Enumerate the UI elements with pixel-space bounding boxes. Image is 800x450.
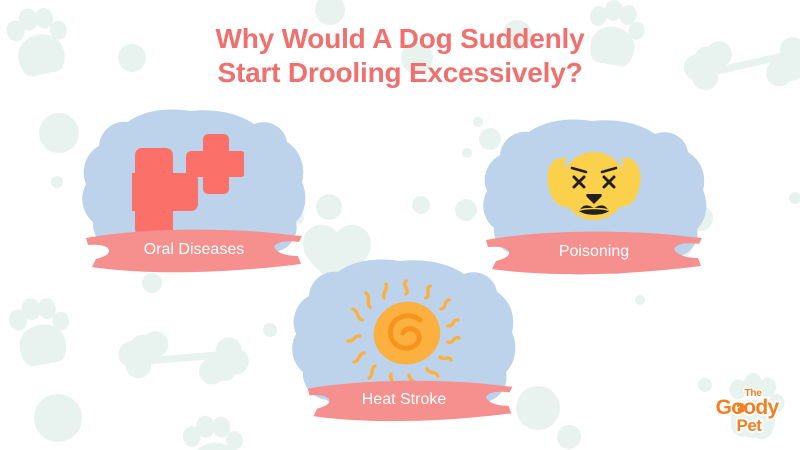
page-title: Why Would A Dog Suddenly Start Drooling …	[0, 22, 800, 90]
card-label-text: Heat Stroke	[362, 391, 446, 408]
card-label-text: Poisoning	[559, 243, 629, 260]
logo-pet: Pet	[737, 416, 763, 435]
card-oral-diseases[interactable]: Oral Diseases	[78, 108, 310, 276]
card-label: Oral Diseases	[78, 241, 310, 259]
card-label-text: Oral Diseases	[144, 241, 244, 258]
medical-cross-icon	[132, 132, 244, 236]
brand-logo[interactable]: The Goody Pet	[710, 384, 786, 436]
title-line-1: Why Would A Dog Suddenly	[0, 22, 800, 56]
sun-icon	[342, 276, 466, 390]
card-label: Heat Stroke	[296, 391, 512, 409]
card-heat-stroke[interactable]: Heat Stroke	[288, 258, 520, 426]
infographic-canvas: Why Would A Dog Suddenly Start Drooling …	[0, 0, 800, 450]
title-line-2: Start Drooling Excessively?	[0, 56, 800, 90]
sick-dog-face-icon	[546, 136, 642, 236]
card-poisoning[interactable]: Poisoning	[478, 118, 710, 278]
